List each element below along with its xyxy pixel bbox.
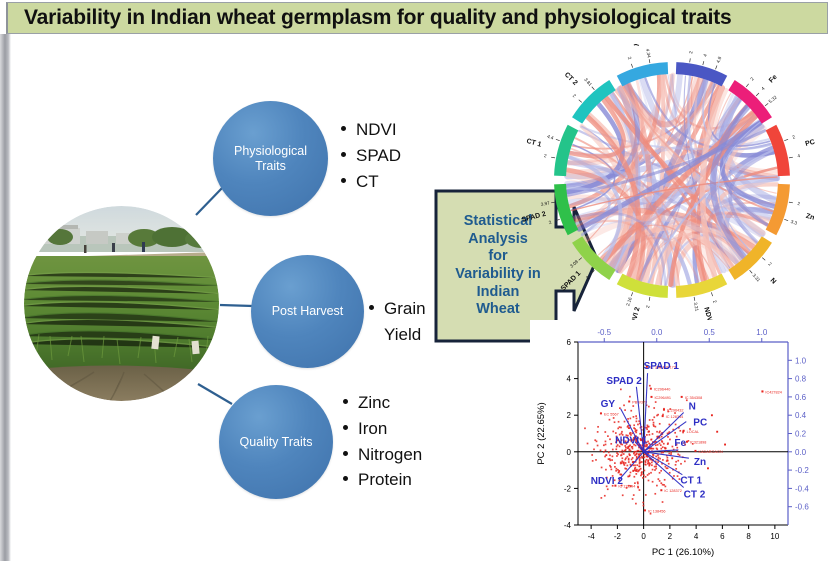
svg-text:6: 6 bbox=[567, 338, 572, 347]
svg-text:0.5: 0.5 bbox=[704, 328, 716, 337]
svg-text:2: 2 bbox=[627, 56, 633, 60]
svg-text:3.97: 3.97 bbox=[540, 200, 550, 207]
svg-text:-2: -2 bbox=[564, 484, 572, 493]
list-item: Iron bbox=[342, 416, 422, 442]
svg-text:3.21: 3.21 bbox=[693, 302, 700, 312]
svg-text:Zn: Zn bbox=[694, 457, 706, 468]
svg-text:IC 128372: IC 128372 bbox=[664, 489, 682, 493]
svg-text:4.34: 4.34 bbox=[645, 48, 652, 58]
svg-text:-2: -2 bbox=[614, 532, 622, 541]
svg-text:0.8: 0.8 bbox=[795, 375, 807, 384]
list-item: Zinc bbox=[342, 390, 422, 416]
svg-text:2: 2 bbox=[688, 50, 693, 54]
svg-text:L: L bbox=[705, 44, 713, 45]
svg-text:IC296440: IC296440 bbox=[654, 388, 670, 392]
list-item: SPAD bbox=[340, 143, 401, 169]
title-bar: Variability in Indian wheat germplasm fo… bbox=[6, 2, 828, 34]
node-quality-traits[interactable]: Quality Traits bbox=[219, 385, 333, 499]
svg-text:3.81: 3.81 bbox=[583, 77, 593, 87]
svg-text:LOCAL: LOCAL bbox=[687, 430, 699, 434]
svg-text:Fe: Fe bbox=[768, 74, 779, 85]
svg-text:4: 4 bbox=[760, 86, 766, 92]
svg-text:SPAD 2: SPAD 2 bbox=[606, 376, 642, 387]
svg-text:NDVI 2: NDVI 2 bbox=[591, 476, 624, 487]
svg-text:4: 4 bbox=[702, 53, 708, 57]
svg-text:10: 10 bbox=[770, 532, 779, 541]
svg-text:2: 2 bbox=[749, 76, 755, 81]
page-title: Variability in Indian wheat germplasm fo… bbox=[8, 6, 732, 30]
svg-text:N: N bbox=[769, 277, 778, 286]
svg-text:2: 2 bbox=[668, 532, 673, 541]
svg-text:5.32: 5.32 bbox=[768, 94, 778, 104]
svg-text:3.08: 3.08 bbox=[569, 259, 579, 269]
svg-text:PC: PC bbox=[805, 139, 816, 148]
svg-text:PC: PC bbox=[693, 418, 707, 429]
left-gutter bbox=[0, 34, 11, 561]
node-physiological-label: Physiological Traits bbox=[213, 144, 328, 173]
list-item: CT bbox=[340, 169, 401, 195]
node-quality-label: Quality Traits bbox=[230, 435, 323, 449]
svg-text:-0.6: -0.6 bbox=[795, 503, 809, 512]
svg-text:PBW373: PBW373 bbox=[632, 400, 647, 404]
svg-text:4.8: 4.8 bbox=[715, 56, 722, 64]
node-post-harvest-label: Post Harvest bbox=[262, 304, 354, 318]
svg-text:KADARGAON: KADARGAON bbox=[698, 450, 723, 454]
pca-biplot: -4-20246810-4-20246-0.50.00.51.01.00.80.… bbox=[530, 320, 832, 561]
svg-text:2: 2 bbox=[548, 219, 552, 225]
list-item: NDVI bbox=[340, 117, 401, 143]
svg-text:4: 4 bbox=[694, 532, 699, 541]
svg-text:2: 2 bbox=[792, 134, 796, 140]
svg-text:PC 2 (22.65%): PC 2 (22.65%) bbox=[536, 402, 547, 464]
svg-text:IC 354308: IC 354308 bbox=[685, 396, 703, 400]
svg-text:0: 0 bbox=[641, 532, 646, 541]
svg-text:SPAD 1: SPAD 1 bbox=[560, 270, 583, 293]
svg-text:2: 2 bbox=[712, 300, 718, 304]
svg-text:2: 2 bbox=[585, 275, 591, 281]
svg-text:1.0: 1.0 bbox=[756, 328, 768, 337]
svg-text:0.0: 0.0 bbox=[651, 328, 663, 337]
node-post-harvest[interactable]: Post Harvest bbox=[251, 255, 364, 368]
node-physiological-traits[interactable]: Physiological Traits bbox=[213, 101, 328, 216]
svg-text:1.0: 1.0 bbox=[795, 356, 807, 365]
list-item: Grain Yield bbox=[368, 296, 428, 348]
svg-text:2: 2 bbox=[645, 305, 650, 309]
svg-text:-4: -4 bbox=[564, 521, 572, 530]
svg-text:EC 5567: EC 5567 bbox=[604, 412, 619, 416]
svg-text:CT 2: CT 2 bbox=[684, 489, 706, 500]
svg-text:CT 1: CT 1 bbox=[526, 138, 543, 149]
svg-text:-4: -4 bbox=[588, 532, 596, 541]
svg-text:0.0: 0.0 bbox=[795, 448, 807, 457]
svg-text:-0.4: -0.4 bbox=[795, 484, 809, 493]
svg-text:0: 0 bbox=[567, 448, 572, 457]
svg-text:2: 2 bbox=[767, 261, 773, 267]
svg-text:8: 8 bbox=[746, 532, 751, 541]
svg-text:CT 2: CT 2 bbox=[563, 71, 579, 87]
svg-text:PC 1 (26.10%): PC 1 (26.10%) bbox=[652, 547, 714, 558]
post-harvest-trait-list: Grain Yield bbox=[368, 296, 428, 348]
svg-text:IC296491: IC296491 bbox=[655, 396, 671, 400]
svg-text:N: N bbox=[689, 401, 696, 412]
svg-text:2: 2 bbox=[572, 93, 578, 99]
svg-text:NDVI 1: NDVI 1 bbox=[615, 436, 648, 447]
svg-text:3.31: 3.31 bbox=[752, 273, 762, 283]
svg-text:4.4: 4.4 bbox=[547, 134, 555, 141]
svg-text:Fe: Fe bbox=[674, 438, 686, 449]
svg-text:3.3: 3.3 bbox=[790, 219, 798, 226]
svg-text:6: 6 bbox=[720, 532, 725, 541]
wheat-field-photo bbox=[24, 206, 219, 401]
svg-text:2: 2 bbox=[567, 411, 572, 420]
svg-text:2.16: 2.16 bbox=[625, 296, 633, 307]
list-item: Nitrogen bbox=[342, 442, 422, 468]
svg-text:IC296432: IC296432 bbox=[667, 409, 683, 413]
svg-text:2: 2 bbox=[544, 153, 548, 158]
svg-text:0.4: 0.4 bbox=[795, 411, 807, 420]
svg-text:GY: GY bbox=[601, 399, 616, 410]
svg-text:IC321898: IC321898 bbox=[690, 441, 706, 445]
svg-text:0.2: 0.2 bbox=[795, 430, 807, 439]
svg-text:Zn: Zn bbox=[805, 213, 815, 222]
svg-text:-0.2: -0.2 bbox=[795, 466, 809, 475]
svg-text:0.6: 0.6 bbox=[795, 393, 807, 402]
svg-text:IC427824: IC427824 bbox=[765, 390, 781, 394]
svg-text:GY: GY bbox=[630, 44, 639, 48]
svg-text:SPAD 1: SPAD 1 bbox=[644, 361, 680, 372]
svg-text:4: 4 bbox=[567, 375, 572, 384]
svg-text:2: 2 bbox=[797, 201, 801, 206]
svg-text:IC 138456: IC 138456 bbox=[648, 509, 666, 513]
graphical-abstract: Variability in Indian wheat germplasm fo… bbox=[0, 0, 832, 561]
list-item: Protein bbox=[342, 467, 422, 493]
physiological-trait-list: NDVI SPAD CT bbox=[340, 117, 401, 194]
circos-chord-diagram: 244.8L245.32Fe24PC23.3Zn23.31N23.21NDVI … bbox=[522, 44, 832, 324]
svg-text:SPAD 2: SPAD 2 bbox=[522, 211, 547, 224]
svg-text:CT 1: CT 1 bbox=[680, 476, 702, 487]
svg-text:4: 4 bbox=[797, 153, 801, 158]
quality-trait-list: Zinc Iron Nitrogen Protein bbox=[342, 390, 422, 493]
svg-text:-0.5: -0.5 bbox=[597, 328, 611, 337]
